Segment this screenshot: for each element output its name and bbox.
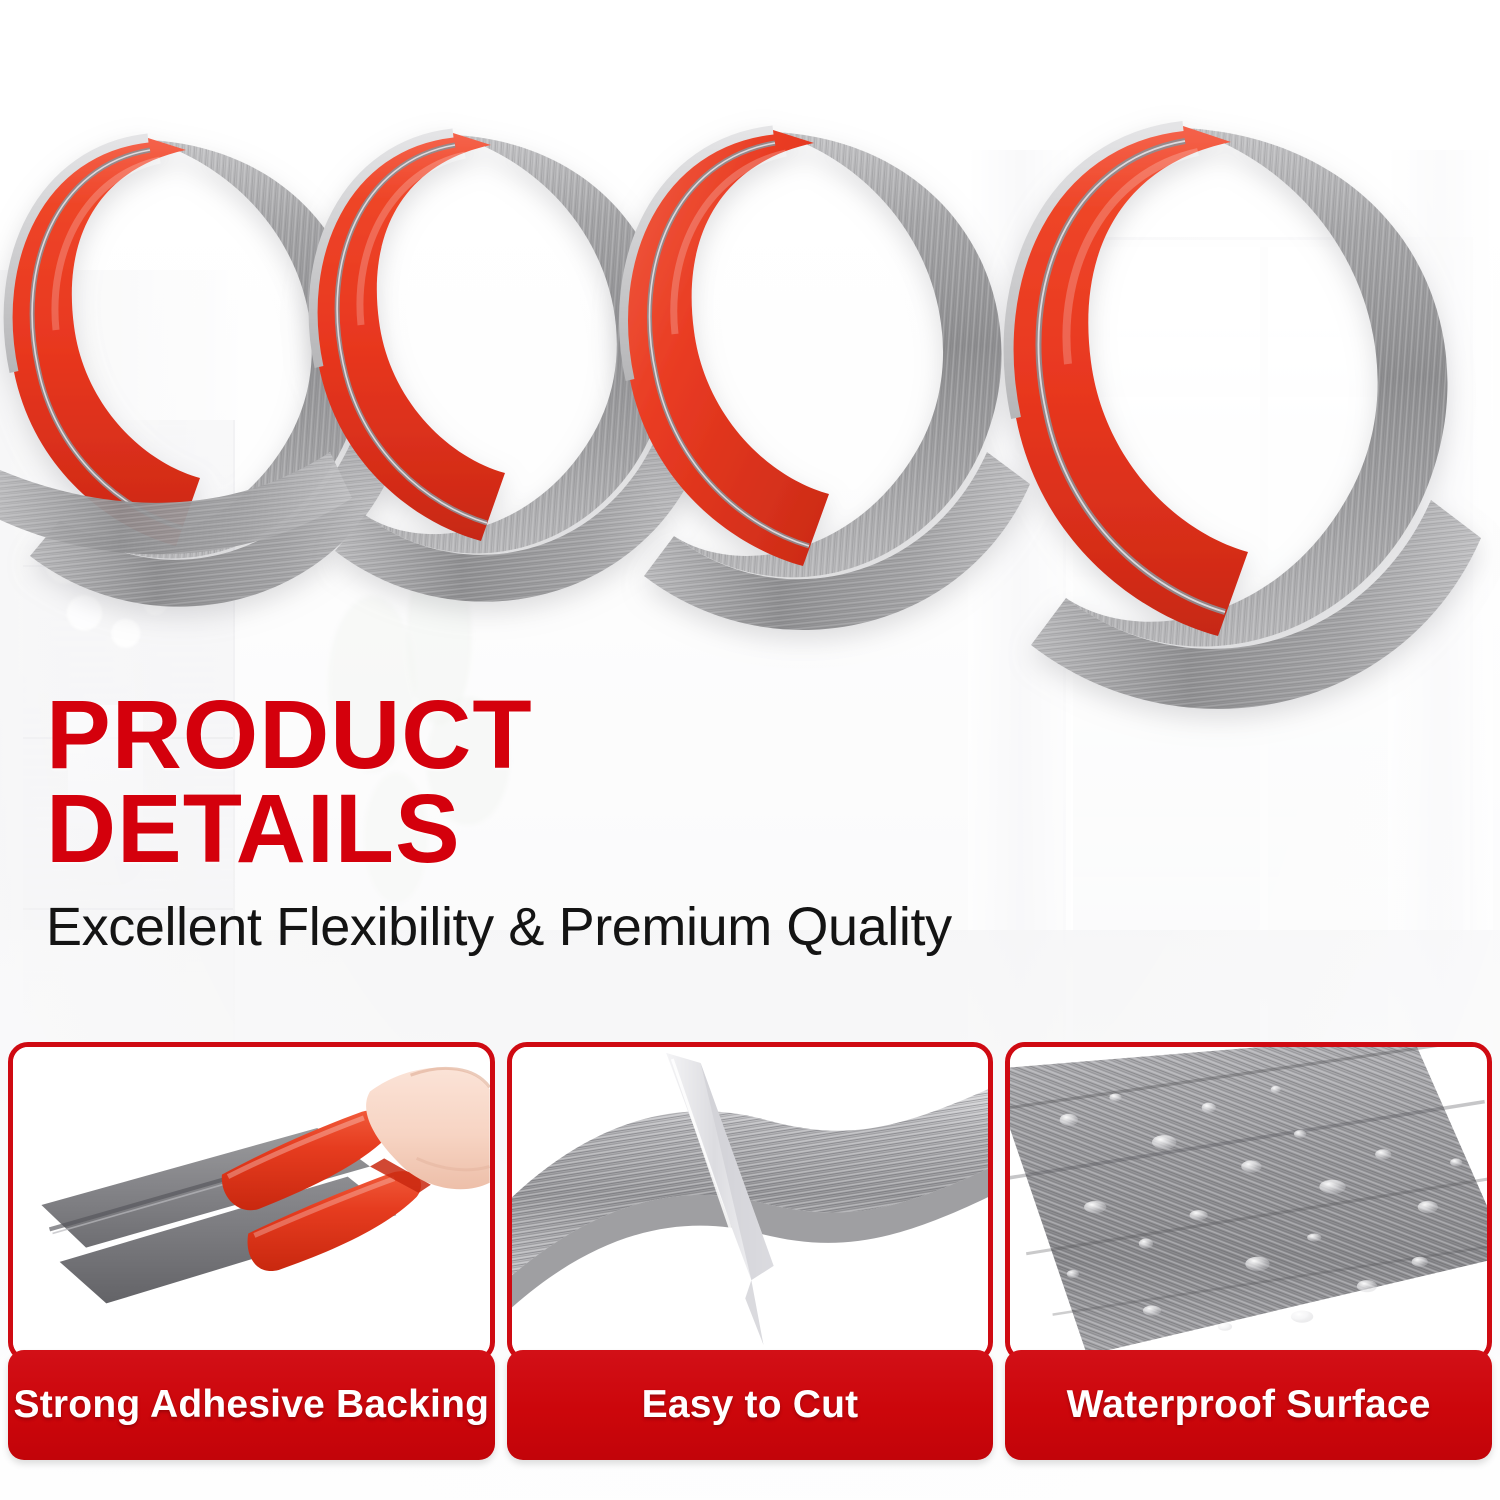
feature-card-strong-adhesive-backing[interactable]: Strong Adhesive Backing: [8, 1030, 495, 1500]
feature-caption-strong-adhesive-backing: Strong Adhesive Backing: [8, 1350, 495, 1460]
cutting-blade-illustration: [512, 1047, 989, 1357]
product-detail-infographic: PRODUCT DETAILS Excellent Flexibility & …: [0, 0, 1500, 1500]
feature-photo-waterproof-surface: [1005, 1042, 1492, 1362]
peeling-adhesive-liner-illustration: [13, 1047, 490, 1357]
page-subtitle: Excellent Flexibility & Premium Quality: [46, 898, 1226, 956]
page-title: PRODUCT DETAILS: [46, 688, 1226, 876]
feature-photo-strong-adhesive-backing: [8, 1042, 495, 1362]
feature-caption-waterproof-surface: Waterproof Surface: [1005, 1350, 1492, 1460]
feature-panel-row: Strong Adhesive Backing: [0, 1030, 1500, 1500]
title-line-2: DETAILS: [46, 782, 1226, 876]
headline-block: PRODUCT DETAILS Excellent Flexibility & …: [46, 688, 1226, 956]
feature-card-waterproof-surface[interactable]: Waterproof Surface: [1005, 1030, 1492, 1500]
title-line-1: PRODUCT: [46, 680, 533, 789]
feature-photo-easy-to-cut: [507, 1042, 994, 1362]
water-droplets-illustration: [1010, 1047, 1487, 1357]
feature-card-easy-to-cut[interactable]: Easy to Cut: [507, 1030, 994, 1500]
feature-caption-easy-to-cut: Easy to Cut: [507, 1350, 994, 1460]
